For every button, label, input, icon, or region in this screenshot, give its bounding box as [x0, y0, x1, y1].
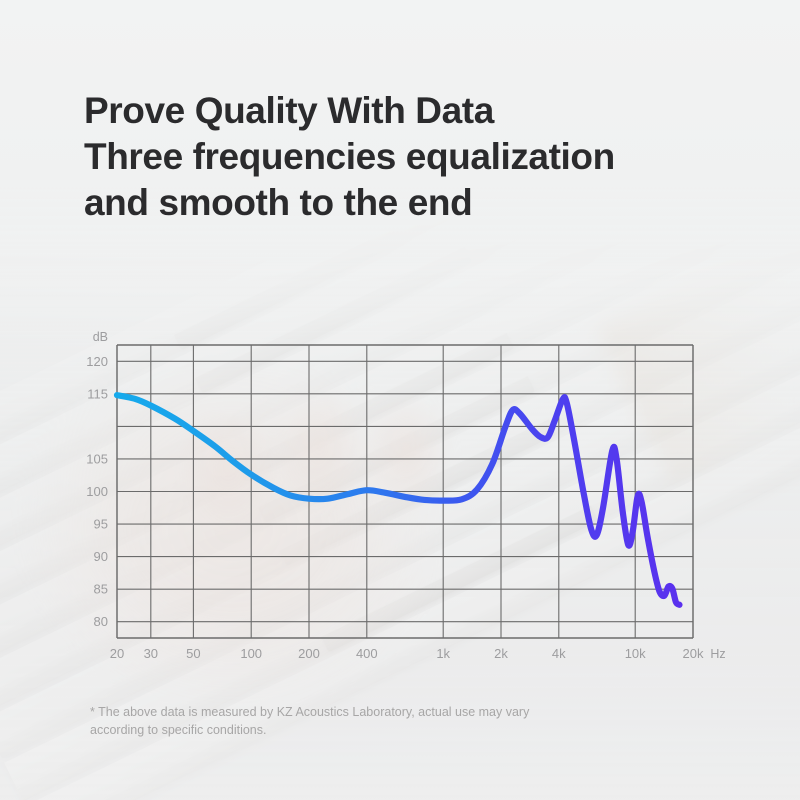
svg-text:20: 20	[110, 646, 124, 661]
svg-text:115: 115	[87, 386, 108, 401]
svg-text:dB: dB	[93, 330, 108, 344]
disclaimer-note: * The above data is measured by KZ Acous…	[90, 703, 630, 739]
svg-text:105: 105	[86, 451, 108, 466]
svg-text:10k: 10k	[625, 646, 646, 661]
svg-text:85: 85	[94, 582, 108, 597]
svg-text:50: 50	[186, 646, 200, 661]
svg-text:95: 95	[94, 517, 108, 532]
svg-text:90: 90	[94, 549, 108, 564]
svg-text:400: 400	[356, 646, 378, 661]
svg-text:20k: 20k	[683, 646, 704, 661]
svg-text:100: 100	[240, 646, 262, 661]
chart-svg: 12011510510095908580 2030501002004001k2k…	[0, 0, 800, 800]
frequency-response-chart: 12011510510095908580 2030501002004001k2k…	[0, 0, 800, 800]
svg-text:4k: 4k	[552, 646, 566, 661]
svg-text:120: 120	[86, 354, 108, 369]
svg-text:80: 80	[94, 614, 108, 629]
y-axis-tick-labels: 12011510510095908580	[86, 354, 108, 629]
product-infographic-page: Prove Quality With Data Three frequencie…	[0, 0, 800, 800]
svg-text:100: 100	[86, 484, 108, 499]
svg-text:30: 30	[144, 646, 158, 661]
svg-text:1k: 1k	[436, 646, 450, 661]
svg-text:Hz: Hz	[710, 647, 725, 661]
x-axis-tick-labels: 2030501002004001k2k4k10k20k	[110, 646, 704, 661]
svg-text:200: 200	[298, 646, 320, 661]
svg-text:2k: 2k	[494, 646, 508, 661]
